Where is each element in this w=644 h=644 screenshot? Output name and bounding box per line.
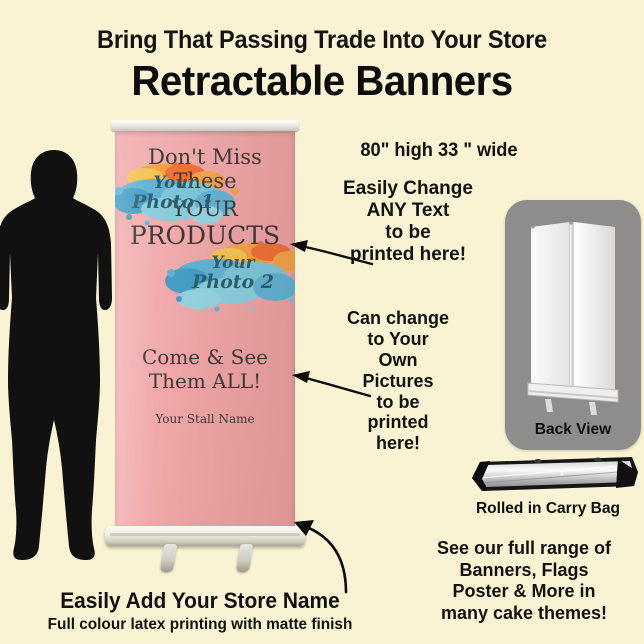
banner-foot-right bbox=[236, 544, 253, 572]
retractable-banner-stand-icon: Don't Miss These YOUR PRODUCTS Your Phot… bbox=[105, 120, 305, 585]
see-range-line-1: See our full range of bbox=[404, 538, 644, 560]
carry-bag-icon bbox=[466, 452, 642, 494]
banner-photo2-line2: Photo 2 bbox=[181, 273, 285, 292]
banner-line-4: PRODUCTS bbox=[115, 223, 295, 249]
banner-foot-left bbox=[160, 544, 177, 572]
banner-line-1: Don't Miss bbox=[115, 147, 295, 168]
banner-top-rail bbox=[111, 120, 299, 131]
carry-bag-label: Rolled in Carry Bag bbox=[455, 500, 641, 518]
back-view-panel: Back View bbox=[505, 200, 641, 450]
change-pictures-line-7: here! bbox=[318, 433, 478, 454]
arrow-left-icon bbox=[288, 238, 374, 272]
banner-line-6: Them ALL! bbox=[115, 371, 295, 391]
change-pictures-line-1: Can change bbox=[318, 308, 478, 329]
dimensions-label: 80" high 33 " wide bbox=[321, 140, 557, 162]
change-pictures-line-2: to Your bbox=[318, 329, 478, 350]
banner-photo1-line2: Photo 1 bbox=[123, 193, 223, 212]
banner-photo1-line1: Your bbox=[135, 175, 215, 192]
change-pictures-line-6: printed bbox=[318, 412, 478, 433]
banner-base-cassette bbox=[105, 526, 305, 546]
banner-stall-name: Your Stall Name bbox=[115, 413, 295, 425]
poster-canvas: Bring That Passing Trade Into Your Store… bbox=[0, 0, 644, 644]
page-title: Retractable Banners bbox=[13, 57, 631, 105]
arrow-left-icon bbox=[290, 368, 372, 402]
change-text-line-1: Easily Change bbox=[312, 178, 504, 200]
banner-photo2-line1: Your bbox=[191, 255, 275, 272]
banner-line-5: Come & See bbox=[115, 347, 295, 367]
arrow-curved-left-icon bbox=[280, 512, 390, 594]
person-silhouette-icon bbox=[0, 148, 114, 568]
banner-back-view-icon bbox=[523, 218, 623, 416]
change-text-line-2: ANY Text bbox=[312, 200, 504, 222]
back-view-label: Back View bbox=[507, 421, 639, 439]
see-range-line-4: many cake themes! bbox=[404, 603, 644, 625]
banner-graphic: Don't Miss These YOUR PRODUCTS Your Phot… bbox=[115, 131, 295, 528]
see-range-line-2: Banners, Flags bbox=[404, 560, 644, 582]
see-range-note: See our full range of Banners, Flags Pos… bbox=[404, 538, 644, 624]
see-range-line-3: Poster & More in bbox=[404, 581, 644, 603]
latex-printing-caption: Full colour latex printing with matte fi… bbox=[8, 616, 392, 634]
page-subtitle: Bring That Passing Trade Into Your Store bbox=[19, 26, 624, 55]
